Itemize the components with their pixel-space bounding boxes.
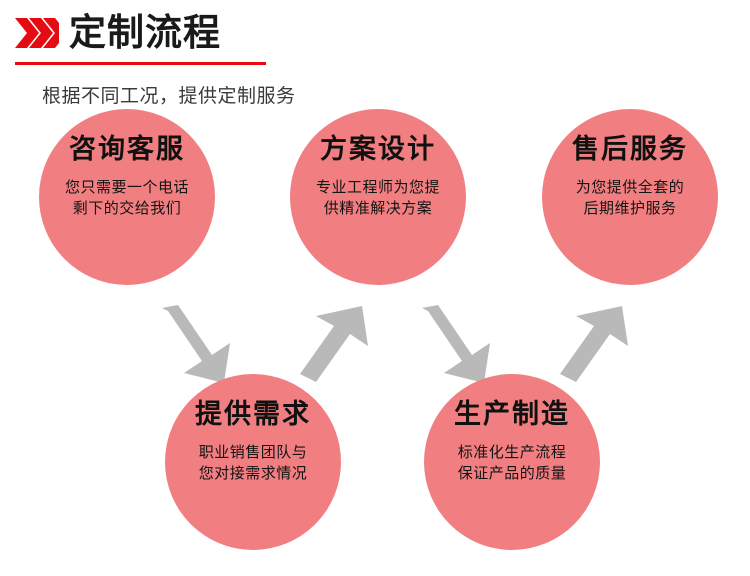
- node-description-line: 为您提供全套的: [576, 177, 685, 199]
- node-description-line: 后期维护服务: [576, 198, 685, 220]
- node-description-line: 专业工程师为您提: [316, 177, 440, 199]
- node-description-line: 标准化生产流程: [458, 442, 567, 464]
- node-description: 您只需要一个电话 剩下的交给我们: [65, 177, 189, 221]
- node-title: 生产制造: [454, 400, 570, 430]
- node-description: 为您提供全套的 后期维护服务: [576, 177, 685, 221]
- node-title: 方案设计: [320, 135, 436, 165]
- node-description-line: 供精准解决方案: [316, 198, 440, 220]
- node-title: 提供需求: [195, 400, 311, 430]
- process-node-design[interactable]: 方案设计 专业工程师为您提 供精准解决方案: [290, 109, 466, 285]
- process-flow-stage: 咨询客服 您只需要一个电话 剩下的交给我们 方案设计 专业工程师为您提 供精准解…: [0, 0, 750, 576]
- arrow-up-right-icon: [288, 300, 372, 384]
- arrow-up-right-icon: [548, 300, 632, 384]
- node-description-line: 职业销售团队与: [199, 442, 308, 464]
- customization-process-infographic: 定制流程 根据不同工况，提供定制服务: [0, 0, 750, 576]
- process-node-after-sales[interactable]: 售后服务 为您提供全套的 后期维护服务: [542, 109, 718, 285]
- node-title: 售后服务: [572, 135, 688, 165]
- node-description-line: 您对接需求情况: [199, 463, 308, 485]
- node-description: 标准化生产流程 保证产品的质量: [458, 442, 567, 486]
- node-title: 咨询客服: [69, 135, 185, 165]
- node-description-line: 剩下的交给我们: [65, 198, 189, 220]
- arrow-down-right-icon: [412, 303, 496, 387]
- node-description: 专业工程师为您提 供精准解决方案: [316, 177, 440, 221]
- node-description: 职业销售团队与 您对接需求情况: [199, 442, 308, 486]
- arrow-down-right-icon: [152, 303, 236, 387]
- process-node-manufacture[interactable]: 生产制造 标准化生产流程 保证产品的质量: [424, 374, 600, 550]
- process-node-requirements[interactable]: 提供需求 职业销售团队与 您对接需求情况: [165, 374, 341, 550]
- process-node-consult[interactable]: 咨询客服 您只需要一个电话 剩下的交给我们: [39, 109, 215, 285]
- node-description-line: 保证产品的质量: [458, 463, 567, 485]
- node-description-line: 您只需要一个电话: [65, 177, 189, 199]
